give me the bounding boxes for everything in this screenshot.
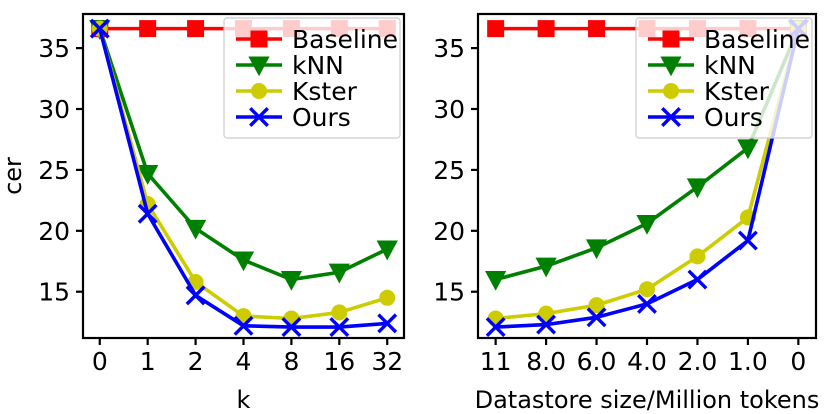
legend-label: Kster xyxy=(704,77,770,106)
x-tick-label: 2.0 xyxy=(678,347,718,376)
y-tick-label: 35 xyxy=(433,34,465,63)
legend-marker xyxy=(251,83,267,99)
matplotlib-figure: 012481632k1520253035cerBaselinekNNKsterO… xyxy=(0,0,830,414)
legend-marker xyxy=(663,83,679,99)
legend-label: Baseline xyxy=(704,25,810,54)
legend-label: Kster xyxy=(292,77,358,106)
data-point xyxy=(379,290,395,306)
legend-label: kNN xyxy=(292,51,344,80)
x-tick-label: 4.0 xyxy=(627,347,667,376)
x-tick-label: 16 xyxy=(323,347,355,376)
data-point xyxy=(538,20,555,37)
y-tick-label: 15 xyxy=(38,278,70,307)
legend-marker xyxy=(251,31,268,48)
legend-label: Ours xyxy=(704,103,763,132)
x-axis-label: Datastore size/Million tokens xyxy=(475,386,820,414)
data-point xyxy=(639,281,655,297)
data-point xyxy=(588,20,605,37)
y-tick-label: 30 xyxy=(433,95,465,124)
data-point xyxy=(283,311,299,327)
y-tick-label: 15 xyxy=(433,278,465,307)
y-tick-label: 30 xyxy=(38,95,70,124)
y-tick-label: 35 xyxy=(38,34,70,63)
data-point xyxy=(331,304,347,320)
data-point xyxy=(487,20,504,37)
x-tick-label: 0 xyxy=(790,347,806,376)
x-tick-label: 4 xyxy=(236,347,252,376)
y-tick-label: 20 xyxy=(433,217,465,246)
y-tick-label: 20 xyxy=(38,217,70,246)
data-point xyxy=(488,311,504,327)
x-tick-label: 32 xyxy=(371,347,403,376)
legend: BaselinekNNKsterOurs xyxy=(636,18,812,138)
data-point xyxy=(689,248,705,264)
data-point xyxy=(187,20,204,37)
legend-marker xyxy=(663,31,680,48)
x-tick-label: 2 xyxy=(188,347,204,376)
x-tick-label: 1.0 xyxy=(728,347,768,376)
x-axis-label: k xyxy=(237,386,251,414)
y-tick-label: 25 xyxy=(38,156,70,185)
legend-label: Ours xyxy=(292,103,351,132)
x-tick-label: 11 xyxy=(480,347,512,376)
x-tick-label: 1 xyxy=(140,347,156,376)
legend-label: kNN xyxy=(704,51,756,80)
x-tick-label: 6.0 xyxy=(577,347,617,376)
x-tick-label: 8 xyxy=(283,347,299,376)
y-tick-label: 25 xyxy=(433,156,465,185)
data-point xyxy=(139,20,156,37)
x-tick-label: 0 xyxy=(92,347,108,376)
y-axis-label: cer xyxy=(0,157,27,195)
x-tick-label: 8.0 xyxy=(526,347,566,376)
legend-label: Baseline xyxy=(292,25,398,54)
legend: BaselinekNNKsterOurs xyxy=(224,18,400,138)
figure-root: 012481632k1520253035cerBaselinekNNKsterO… xyxy=(0,0,830,414)
